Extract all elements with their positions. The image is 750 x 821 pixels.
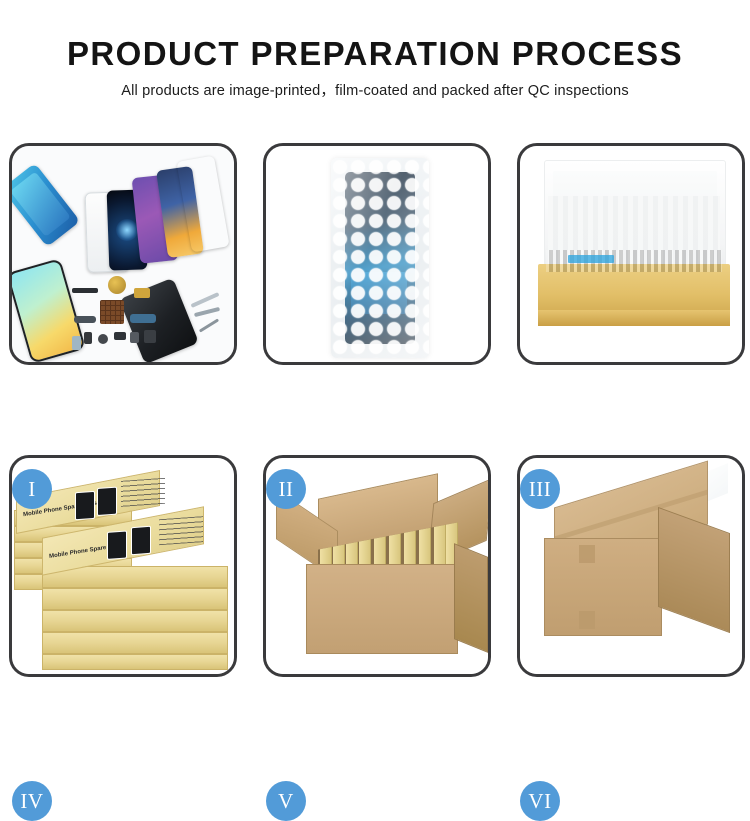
speaker-part-icon	[108, 276, 126, 294]
open-shipping-carton	[284, 488, 478, 656]
stacked-box-edge	[42, 654, 228, 670]
phone-print-icon	[97, 487, 117, 516]
process-steps-grid: Mobile Phone Spare Parts Mobile Phone Sp…	[9, 143, 741, 680]
lcd-assembly-blue-icon	[12, 163, 80, 247]
small-part-icon	[114, 332, 126, 340]
sim-tray-part-icon	[72, 336, 81, 350]
product-preparation-process-page: PRODUCT PREPARATION PROCESS All products…	[0, 0, 750, 750]
bubble-wrap-scene	[266, 146, 488, 362]
step-badge-2: II	[266, 469, 306, 509]
step-image-bubble-wrap-protection	[266, 146, 488, 362]
phone-print-icon	[75, 491, 95, 520]
step-image-products-and-spare-parts	[12, 146, 234, 362]
step-panel-bubble-wrap-protection	[263, 143, 491, 365]
products-scene	[12, 146, 234, 362]
page-header: PRODUCT PREPARATION PROCESS All products…	[0, 34, 750, 101]
mesh-part-icon	[100, 300, 124, 324]
stacked-box-edge	[42, 610, 228, 632]
spec-list-print-icon	[121, 478, 165, 507]
step-badge-5: V	[266, 781, 306, 821]
carton-side-panel-icon	[454, 543, 488, 653]
carton-side-panel-icon	[658, 507, 730, 633]
carton-hand-hole-icon	[579, 611, 595, 629]
connector-part-icon	[134, 288, 150, 298]
carton-front-panel-icon	[306, 564, 458, 654]
flex-cable-part-icon	[74, 316, 96, 323]
plastic-sheen-overlay	[331, 158, 429, 358]
box-front-panel-icon	[538, 310, 730, 326]
spec-list-print-icon	[159, 516, 203, 545]
small-part-icon	[130, 332, 139, 343]
page-subtitle: All products are image-printed，film-coat…	[0, 81, 750, 101]
step-panel-inner-box-packing	[517, 143, 745, 365]
step-panel-products-and-spare-parts	[9, 143, 237, 365]
small-part-icon	[144, 330, 156, 343]
box-stack: Mobile Phone Spare Parts Mobile Phone Sp…	[14, 476, 232, 668]
small-part-icon	[84, 332, 92, 344]
bubble-wrapped-package	[331, 158, 429, 358]
spare-parts-group	[70, 274, 190, 360]
stacked-box-edge	[42, 588, 228, 610]
step-image-inner-box-packing	[520, 146, 742, 362]
stacked-box-edge	[42, 632, 228, 654]
phone-print-icon	[107, 530, 127, 559]
camera-lens-part-icon	[98, 334, 108, 344]
charging-port-part-icon	[130, 314, 156, 323]
step-badge-1: I	[12, 469, 52, 509]
page-title: PRODUCT PREPARATION PROCESS	[0, 34, 750, 74]
repair-tools-icon	[188, 296, 232, 340]
step-badge-6: VI	[520, 781, 560, 821]
earpiece-part-icon	[72, 288, 98, 293]
sealed-shipping-carton	[544, 484, 728, 644]
open-kraft-mailer-box	[538, 160, 730, 340]
inner-box-scene	[520, 146, 742, 362]
carton-hand-hole-icon	[579, 545, 595, 563]
step-badge-4: IV	[12, 781, 52, 821]
step-badge-3: III	[520, 469, 560, 509]
carton-front-panel-icon	[544, 538, 662, 636]
phone-print-icon	[131, 526, 151, 555]
